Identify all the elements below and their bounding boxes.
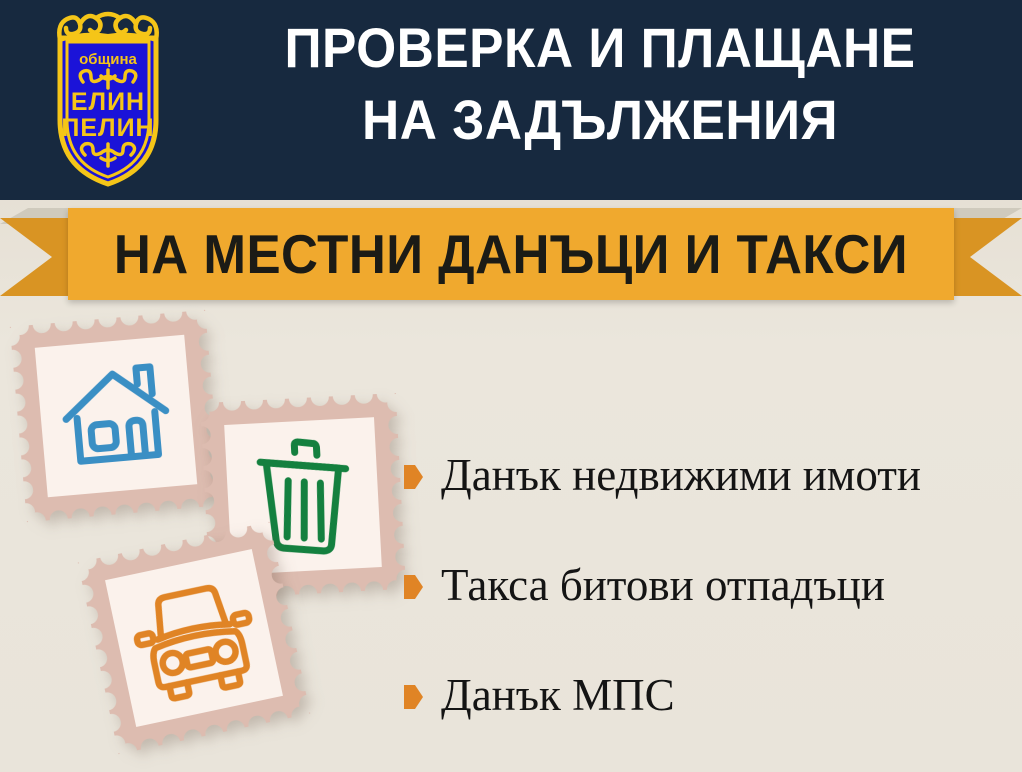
municipal-shield-crest-icon: община ЕЛИН ПЕЛИН [33, 8, 183, 190]
crest-line-1: община [79, 51, 137, 68]
crest-line-2: ЕЛИН [71, 88, 145, 116]
arrow-bullet-icon [404, 465, 423, 489]
list-item[interactable]: Такса битови отпадъци [404, 530, 1014, 640]
ribbon-label: НА МЕСТНИ ДАНЪЦИ И ТАКСИ [114, 225, 908, 283]
crest-line-3: ПЕЛИН [61, 114, 154, 142]
title-line-1: ПРОВЕРКА И ПЛАЩАНЕ [223, 12, 977, 84]
list-item-label: Такса битови отпадъци [441, 560, 885, 610]
list-item[interactable]: Данък недвижими имоти [404, 420, 1014, 530]
header-banner: община ЕЛИН ПЕЛИН [0, 0, 1022, 200]
arrow-bullet-icon [404, 575, 423, 599]
page-title: ПРОВЕРКА И ПЛАЩАНЕ НА ЗАДЪЛЖЕНИЯ [190, 12, 1010, 156]
poster-canvas: община ЕЛИН ПЕЛИН [0, 0, 1022, 772]
title-line-2: НА ЗАДЪЛЖЕНИЯ [223, 84, 977, 156]
ribbon-band: НА МЕСТНИ ДАНЪЦИ И ТАКСИ [68, 208, 954, 300]
stamp-card-property [10, 310, 222, 522]
arrow-bullet-icon [404, 685, 423, 709]
subtitle-ribbon: НА МЕСТНИ ДАНЪЦИ И ТАКСИ [0, 200, 1022, 308]
tax-type-list: Данък недвижими имоти Такса битови отпад… [404, 420, 1014, 750]
list-item-label: Данък МПС [441, 670, 675, 720]
list-item[interactable]: Данък МПС [404, 640, 1014, 750]
stamp-card-vehicle [78, 522, 310, 754]
list-item-label: Данък недвижими имоти [441, 450, 921, 500]
